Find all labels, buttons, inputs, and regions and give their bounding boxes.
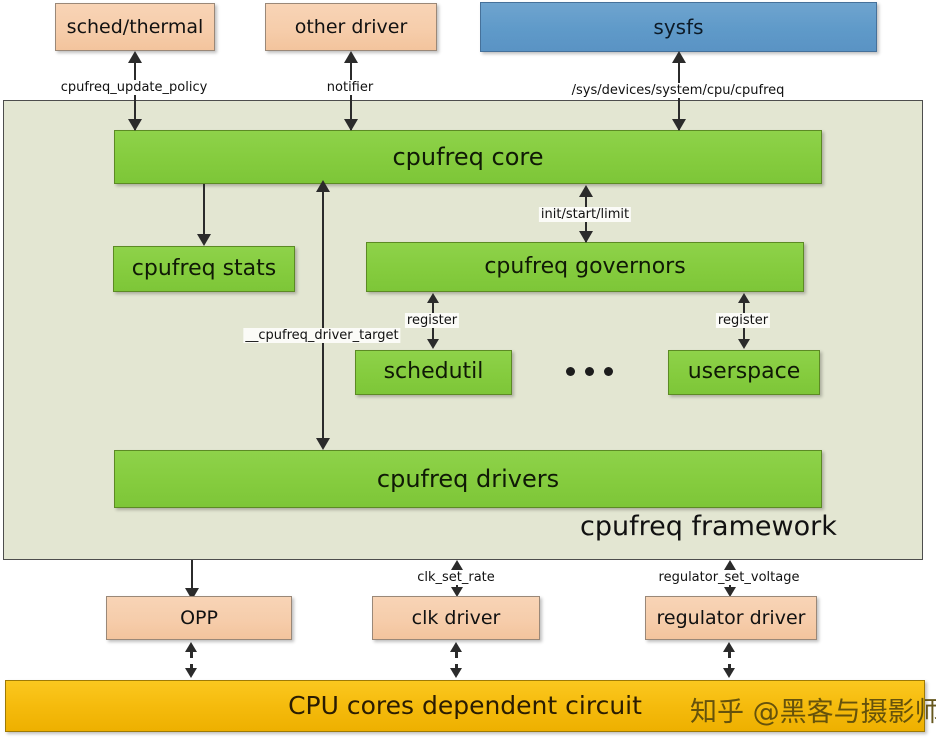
- arrowhead-down-governors: [579, 231, 593, 243]
- block-regulator-driver[interactable]: regulator driver: [645, 596, 817, 640]
- edge-label-cpufreq-update-policy: cpufreq_update_policy: [59, 80, 210, 95]
- arrowhead-up-regulator-hardware: [723, 642, 735, 652]
- arrowhead-up-sysfs: [672, 51, 686, 63]
- arrowhead-down-stats: [197, 234, 211, 246]
- connector-core-stats: [203, 184, 205, 236]
- arrowhead-up-schedutil: [427, 293, 439, 303]
- arrowhead-down-sysfs: [672, 119, 686, 131]
- edge-label-regulator-set-voltage: regulator_set_voltage: [657, 570, 802, 585]
- edge-label-register-right: register: [716, 313, 770, 328]
- block-cpufreq-drivers[interactable]: cpufreq drivers: [114, 450, 822, 508]
- arrowhead-up-governors: [579, 185, 593, 197]
- arrowhead-up-clk-hardware: [450, 642, 462, 652]
- block-userspace[interactable]: userspace: [668, 350, 820, 395]
- edge-label-sysfs-path: /sys/devices/system/cpu/cpufreq: [570, 83, 787, 98]
- arrowhead-up-other-driver: [344, 51, 358, 63]
- block-cpufreq-governors[interactable]: cpufreq governors: [366, 242, 804, 292]
- edge-label-init-start-limit: init/start/limit: [539, 207, 631, 222]
- block-opp[interactable]: OPP: [106, 596, 292, 640]
- arrowhead-down-core-drivers: [316, 438, 330, 450]
- framework-label: cpufreq framework: [580, 511, 837, 542]
- arrowhead-down-opp-hardware: [185, 668, 197, 678]
- diagram-canvas: sched/thermal other driver sysfs cpufreq…: [0, 0, 936, 739]
- arrowhead-down-schedutil: [427, 339, 439, 349]
- ellipsis-icon: [566, 367, 613, 376]
- block-sysfs[interactable]: sysfs: [480, 2, 877, 52]
- arrowhead-down-userspace: [738, 339, 750, 349]
- connector-core-drivers: [322, 190, 324, 446]
- arrowhead-down-clk-hardware: [450, 668, 462, 678]
- arrowhead-up-core-drivers: [316, 180, 330, 192]
- arrowhead-down-sched-thermal: [128, 119, 142, 131]
- block-other-driver[interactable]: other driver: [265, 3, 437, 51]
- block-sched-thermal[interactable]: sched/thermal: [55, 3, 215, 51]
- block-clk-driver[interactable]: clk driver: [372, 596, 540, 640]
- arrowhead-up-sched-thermal: [128, 51, 142, 63]
- arrowhead-up-clk: [451, 560, 463, 570]
- edge-label-notifier: notifier: [325, 80, 375, 95]
- edge-label-driver-target: __cpufreq_driver_target: [243, 328, 400, 343]
- arrowhead-up-userspace: [738, 293, 750, 303]
- block-cpufreq-core[interactable]: cpufreq core: [114, 130, 822, 184]
- edge-label-clk-set-rate: clk_set_rate: [415, 570, 497, 585]
- arrowhead-down-regulator-hardware: [723, 668, 735, 678]
- arrowhead-down-other-driver: [344, 119, 358, 131]
- block-schedutil[interactable]: schedutil: [355, 350, 512, 395]
- arrowhead-up-regulator: [724, 560, 736, 570]
- edge-label-register-left: register: [405, 313, 459, 328]
- block-cpufreq-stats[interactable]: cpufreq stats: [113, 246, 295, 292]
- arrowhead-up-opp-hardware: [185, 642, 197, 652]
- watermark-zhihu: 知乎 @黑客与摄影师: [690, 690, 936, 729]
